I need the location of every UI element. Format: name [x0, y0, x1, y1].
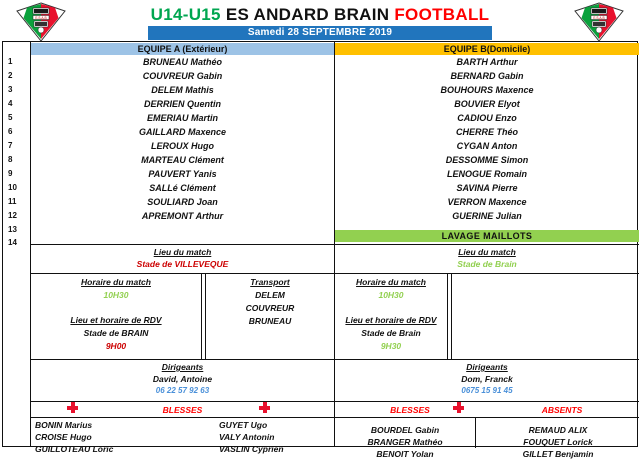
- team-a-player: SOULIARD Joan: [31, 195, 334, 209]
- team-a-injured-name: BONIN Marius: [35, 420, 92, 430]
- team-b-player: BOUVIER Elyot: [335, 97, 639, 111]
- row-number: 11: [3, 197, 27, 206]
- team-a-player: GAILLARD Maxence: [31, 125, 334, 139]
- team-b-staff-block: Dirigeants Dom, Franck 0675 15 91 45: [335, 362, 639, 395]
- team-a-staff-label: Dirigeants: [31, 362, 334, 372]
- team-a-injured-name: VASLIN Cyprien: [219, 444, 284, 454]
- team-a-rdv-label: Lieu et horaire de RDV: [31, 315, 201, 325]
- title-club: ES ANDARD BRAIN: [226, 5, 390, 24]
- title-sport: FOOTBALL: [394, 5, 489, 24]
- red-cross-icon: [259, 402, 270, 413]
- divider: [447, 273, 448, 359]
- team-b-venue-block: Lieu du match Stade de Brain: [335, 247, 639, 269]
- team-a-player: COUVREUR Gabin: [31, 69, 334, 83]
- svg-text:E.S.A.B: E.S.A.B: [35, 16, 46, 20]
- divider: [335, 417, 639, 418]
- team-b-player: BERNARD Gabin: [335, 69, 639, 83]
- row-number: 1: [3, 57, 27, 66]
- team-a-time-label: Horaire du match: [31, 277, 201, 287]
- team-b-player: LENOGUE Romain: [335, 167, 639, 181]
- club-crest-icon: E.S.A.B: [572, 2, 626, 42]
- team-b-player: BARTH Arthur: [335, 55, 639, 69]
- team-a-time-value: 10H30: [31, 290, 201, 300]
- sheet-body: EQUIPE A (Extérieur) BRUNEAU Mathéo COUV…: [31, 42, 637, 446]
- team-b-venue-value: Stade de Brain: [335, 259, 639, 269]
- divider: [451, 273, 452, 359]
- row-number: 10: [3, 183, 27, 192]
- team-a-injured-name: CROISE Hugo: [35, 432, 92, 442]
- team-b-player: SAVINA Pierre: [335, 181, 639, 195]
- team-a-staff-block: Dirigeants David, Antoine 06 22 57 92 63: [31, 362, 334, 395]
- team-b-schedule-block: Horaire du match 10H30 Lieu et horaire d…: [335, 273, 447, 359]
- team-a-player: SALLé Clément: [31, 181, 334, 195]
- row-number: 8: [3, 155, 27, 164]
- team-a-venue-block: Lieu du match Stade de VILLEVEQUE: [31, 247, 334, 269]
- row-number: 5: [3, 113, 27, 122]
- team-b-venue-label: Lieu du match: [335, 247, 639, 257]
- team-a-transport-block: Transport DELEM COUVREUR BRUNEAU: [205, 273, 335, 359]
- team-a-staff-phone: 06 22 57 92 63: [31, 386, 334, 395]
- team-a-header: EQUIPE A (Extérieur): [31, 43, 334, 55]
- row-number: 13: [3, 225, 27, 234]
- team-a-staff-names: David, Antoine: [31, 374, 334, 384]
- divider: [475, 417, 476, 448]
- row-number: 2: [3, 71, 27, 80]
- team-a-transport-name: DELEM: [205, 290, 335, 300]
- page-title: U14-U15 ES ANDARD BRAIN FOOTBALL: [120, 5, 520, 25]
- row-number-column: 1 2 3 4 5 6 7 8 9 10 11 12 13 14: [3, 42, 31, 446]
- red-cross-icon: [453, 402, 464, 413]
- team-a-player: BRUNEAU Mathéo: [31, 55, 334, 69]
- divider: [335, 244, 639, 245]
- divider: [31, 244, 334, 245]
- team-a-venue-value: Stade de VILLEVEQUE: [31, 259, 334, 269]
- row-number: 14: [3, 238, 27, 247]
- team-a-injured-name: GUYET Ugo: [219, 420, 267, 430]
- team-b-rdv-time: 9H30: [335, 341, 447, 351]
- team-b-rdv-label: Lieu et horaire de RDV: [335, 315, 447, 325]
- team-b-injured-name: BENOIT Yolan: [335, 444, 475, 462]
- team-b-kit-washing-banner: LAVAGE MAILLOTS: [335, 230, 639, 242]
- divider: [31, 417, 334, 418]
- row-number: 9: [3, 169, 27, 178]
- team-a-injured-name: VALY Antonin: [219, 432, 274, 442]
- team-a-rdv-place: Stade de BRAIN: [31, 328, 201, 338]
- svg-text:E.S.A.B: E.S.A.B: [593, 16, 604, 20]
- team-b-absent-name: GILLET Benjamin: [477, 444, 639, 462]
- team-b-player: CHERRE Théo: [335, 125, 639, 139]
- team-a-rdv-time: 9H00: [31, 341, 201, 351]
- team-b-column: EQUIPE B(Domicile) BARTH Arthur BERNARD …: [335, 42, 639, 446]
- team-b-time-value: 10H30: [335, 290, 447, 300]
- team-a-player: LEROUX Hugo: [31, 139, 334, 153]
- team-b-staff-phone: 0675 15 91 45: [335, 386, 639, 395]
- team-b-player: BOUHOURS Maxence: [335, 83, 639, 97]
- team-b-player: CADIOU Enzo: [335, 111, 639, 125]
- team-b-player: CYGAN Anton: [335, 139, 639, 153]
- team-a-injured-name: GUILLOTEAU Loric: [35, 444, 113, 454]
- team-a-player: DELEM Mathis: [31, 83, 334, 97]
- row-number: 7: [3, 141, 27, 150]
- row-number: 4: [3, 99, 27, 108]
- team-a-schedule-block: Horaire du match 10H30 Lieu et horaire d…: [31, 273, 201, 359]
- divider: [335, 359, 639, 360]
- team-a-player: DERRIEN Quentin: [31, 97, 334, 111]
- team-b-player: VERRON Maxence: [335, 195, 639, 209]
- team-a-transport-name: BRUNEAU: [205, 316, 335, 326]
- match-sheet-page: E.S.A.B E.S.A.B U14-U15: [0, 0, 640, 449]
- divider: [201, 273, 202, 359]
- team-b-header: EQUIPE B(Domicile): [335, 43, 639, 55]
- team-a-column: EQUIPE A (Extérieur) BRUNEAU Mathéo COUV…: [31, 42, 335, 446]
- match-sheet-table: 1 2 3 4 5 6 7 8 9 10 11 12 13 14 EQUIPE …: [2, 41, 638, 447]
- club-crest-icon: E.S.A.B: [14, 2, 68, 42]
- divider: [31, 359, 334, 360]
- red-cross-icon: [67, 402, 78, 413]
- row-number: 3: [3, 85, 27, 94]
- title-category: U14-U15: [151, 5, 221, 24]
- team-a-player: EMERIAU Martin: [31, 111, 334, 125]
- team-a-player: PAUVERT Yanis: [31, 167, 334, 181]
- team-b-staff-names: Dom, Franck: [335, 374, 639, 384]
- match-date-banner: Samedi 28 SEPTEMBRE 2019: [148, 26, 492, 40]
- row-number: 6: [3, 127, 27, 136]
- team-b-absent-label: ABSENTS: [485, 405, 639, 415]
- page-header: E.S.A.B E.S.A.B U14-U15: [0, 0, 640, 41]
- team-a-player: MARTEAU Clément: [31, 153, 334, 167]
- team-a-venue-label: Lieu du match: [31, 247, 334, 257]
- team-b-rdv-place: Stade de Brain: [335, 328, 447, 338]
- team-b-player: GUERINE Julian: [335, 209, 639, 223]
- team-a-transport-name: COUVREUR: [205, 303, 335, 313]
- team-b-staff-label: Dirigeants: [335, 362, 639, 372]
- row-number: 12: [3, 211, 27, 220]
- team-a-transport-label: Transport: [205, 277, 335, 287]
- divider: [335, 401, 639, 402]
- team-b-player: DESSOMME Simon: [335, 153, 639, 167]
- team-b-time-label: Horaire du match: [335, 277, 447, 287]
- team-a-player: APREMONT Arthur: [31, 209, 334, 223]
